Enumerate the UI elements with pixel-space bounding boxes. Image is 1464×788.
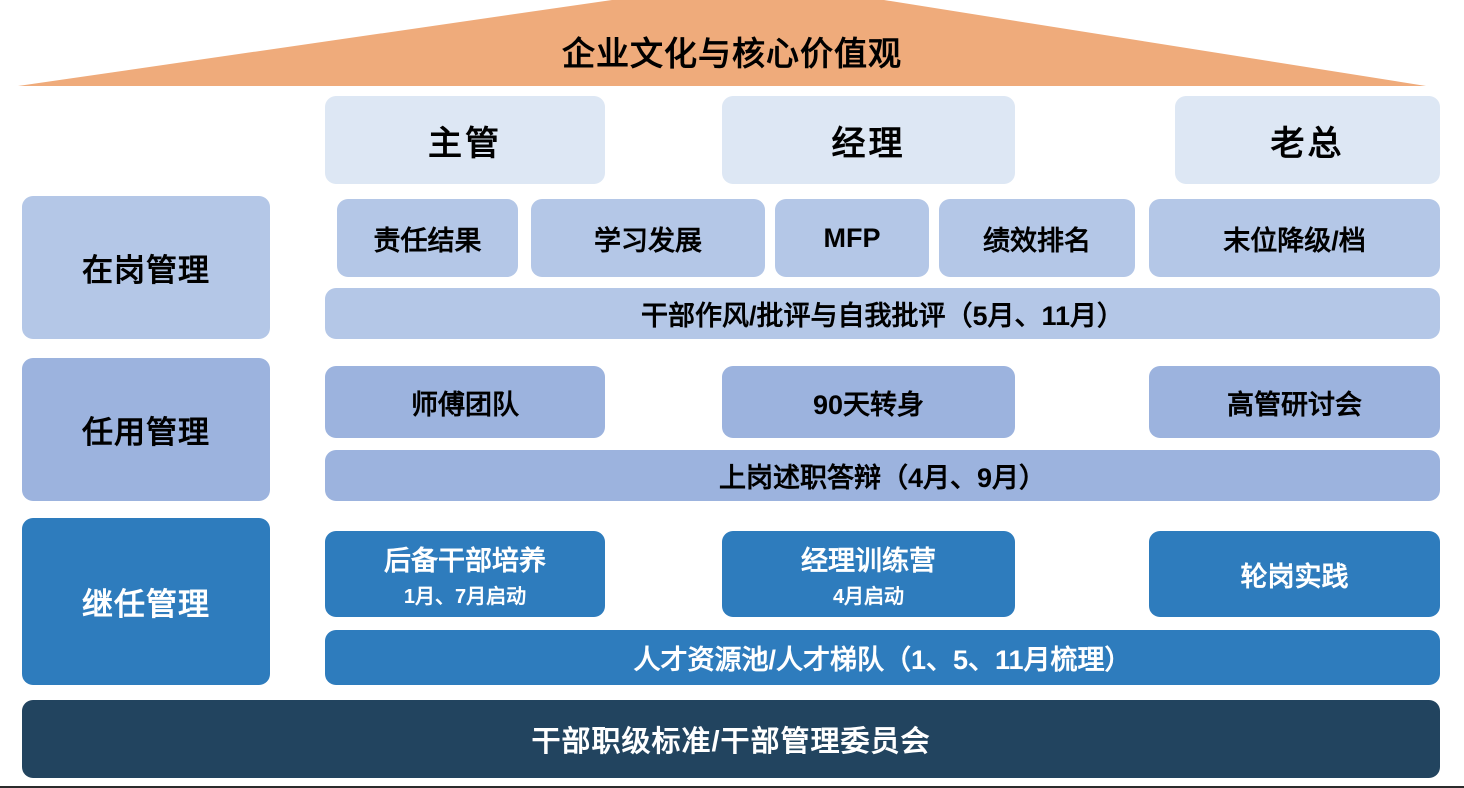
row-label-succession-management[interactable]: 继任管理 [22, 518, 270, 685]
roof-title: 企业文化与核心价值观 [0, 34, 1464, 74]
cell-executive-seminar[interactable]: 高管研讨会 [1149, 366, 1440, 438]
cell-learning-development[interactable]: 学习发展 [531, 199, 765, 277]
cell-mfp[interactable]: MFP [775, 199, 929, 277]
cell-last-place-demotion[interactable]: 末位降级/档 [1149, 199, 1440, 277]
cell-title: 绩效排名 [983, 219, 1091, 258]
column-header-label: 主管 [428, 116, 502, 165]
cell-title: 师傅团队 [411, 383, 519, 422]
row-label-appointment-management[interactable]: 任用管理 [22, 358, 270, 501]
cell-responsibility-result[interactable]: 责任结果 [337, 199, 518, 277]
pyramid-diagram: 企业文化与核心价值观 主管 经理 老总 在岗管理 责任结果 学习发展 MFP 绩… [0, 0, 1464, 788]
cell-title: 高管研讨会 [1227, 383, 1362, 422]
cell-title: MFP [824, 223, 881, 254]
row-bar-cadre-style-criticism[interactable]: 干部作风/批评与自我批评（5月、11月） [325, 288, 1440, 339]
cell-title: 后备干部培养 [384, 539, 546, 578]
cell-title: 经理训练营 [801, 539, 936, 578]
roof-banner: 企业文化与核心价值观 [0, 0, 1464, 88]
cell-subtitle: 1月、7月启动 [404, 580, 526, 609]
row-bar-text: 人才资源池/人才梯队（1、5、11月梳理） [633, 638, 1131, 677]
row-label-text: 继任管理 [82, 579, 210, 624]
foundation-bar[interactable]: 干部职级标准/干部管理委员会 [22, 700, 1440, 778]
cell-reserve-cadre-training[interactable]: 后备干部培养 1月、7月启动 [325, 531, 605, 617]
column-header-manager[interactable]: 经理 [722, 96, 1015, 184]
column-header-label: 老总 [1271, 116, 1345, 165]
cell-90-day-transition[interactable]: 90天转身 [722, 366, 1015, 438]
row-label-text: 在岗管理 [82, 245, 210, 290]
cell-mentor-team[interactable]: 师傅团队 [325, 366, 605, 438]
row-bar-onboarding-debrief[interactable]: 上岗述职答辩（4月、9月） [325, 450, 1440, 501]
cell-title: 末位降级/档 [1223, 219, 1366, 258]
column-header-label: 经理 [832, 116, 906, 165]
column-header-executive[interactable]: 老总 [1175, 96, 1440, 184]
cell-title: 责任结果 [374, 219, 482, 258]
row-bar-text: 干部作风/批评与自我批评（5月、11月） [641, 294, 1124, 333]
column-header-supervisor[interactable]: 主管 [325, 96, 605, 184]
cell-manager-bootcamp[interactable]: 经理训练营 4月启动 [722, 531, 1015, 617]
cell-title: 轮岗实践 [1241, 555, 1349, 594]
row-label-on-job-management[interactable]: 在岗管理 [22, 196, 270, 339]
cell-title: 学习发展 [594, 219, 702, 258]
cell-performance-ranking[interactable]: 绩效排名 [939, 199, 1135, 277]
foundation-label: 干部职级标准/干部管理委员会 [531, 718, 930, 760]
cell-job-rotation-practice[interactable]: 轮岗实践 [1149, 531, 1440, 617]
cell-title: 90天转身 [813, 383, 924, 422]
cell-subtitle: 4月启动 [833, 580, 904, 609]
row-bar-talent-pool-pipeline[interactable]: 人才资源池/人才梯队（1、5、11月梳理） [325, 630, 1440, 685]
row-label-text: 任用管理 [82, 407, 210, 452]
row-bar-text: 上岗述职答辩（4月、9月） [719, 456, 1046, 495]
